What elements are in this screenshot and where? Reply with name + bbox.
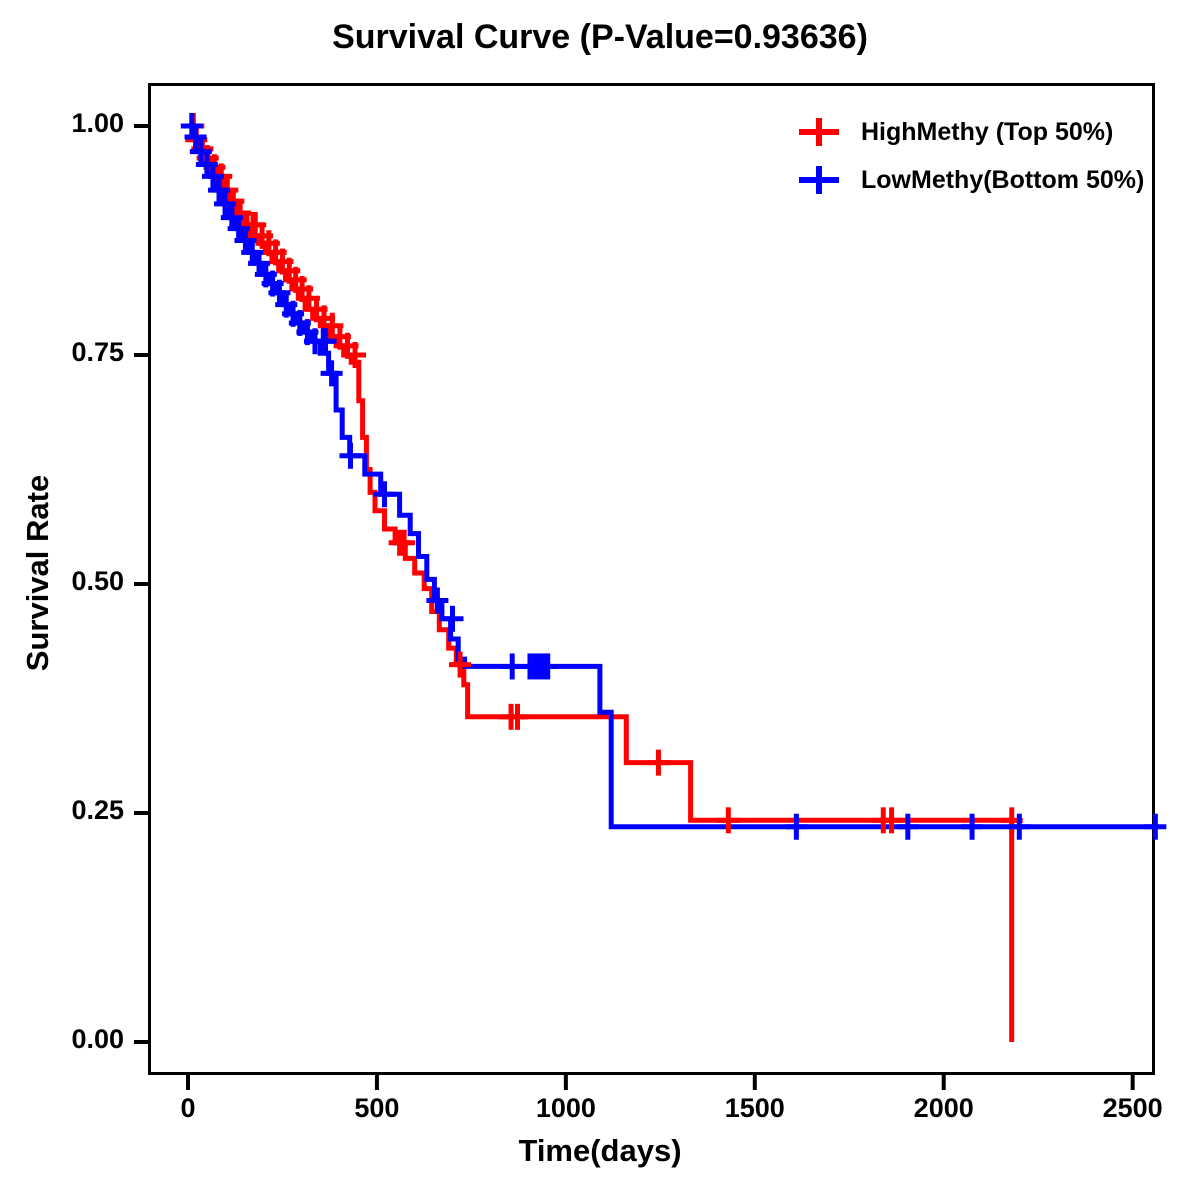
series-lines [188, 126, 1155, 1042]
legend-item-high-methy[interactable]: HighMethy (Top 50%) [795, 108, 1165, 156]
x-tick-label: 2500 [1073, 1093, 1193, 1124]
x-tick-label: 0 [128, 1093, 248, 1124]
y-tick-label: 0.75 [14, 337, 124, 368]
y-tick-label: 0.00 [14, 1024, 124, 1055]
legend-label-low-methy: LowMethy(Bottom 50%) [843, 166, 1144, 195]
chart-legend: HighMethy (Top 50%) LowMethy(Bottom 50%) [795, 108, 1165, 204]
x-tick-label: 1000 [506, 1093, 626, 1124]
plus-marker-icon [795, 115, 843, 149]
y-tick-label: 0.25 [14, 795, 124, 826]
x-tick-label: 2000 [884, 1093, 1004, 1124]
x-tick-label: 500 [317, 1093, 437, 1124]
legend-item-low-methy[interactable]: LowMethy(Bottom 50%) [795, 156, 1165, 204]
plus-marker-icon [795, 163, 843, 197]
x-tick-label: 1500 [695, 1093, 815, 1124]
y-axis-title: Survival Rate [20, 443, 56, 703]
y-tick-label: 1.00 [14, 108, 124, 139]
censor-marks [181, 113, 1167, 840]
survival-curve-figure: Survival Curve (P-Value=0.93636) 0.000.2… [0, 0, 1200, 1200]
x-axis-title: Time(days) [0, 1133, 1200, 1169]
legend-label-high-methy: HighMethy (Top 50%) [843, 118, 1113, 147]
